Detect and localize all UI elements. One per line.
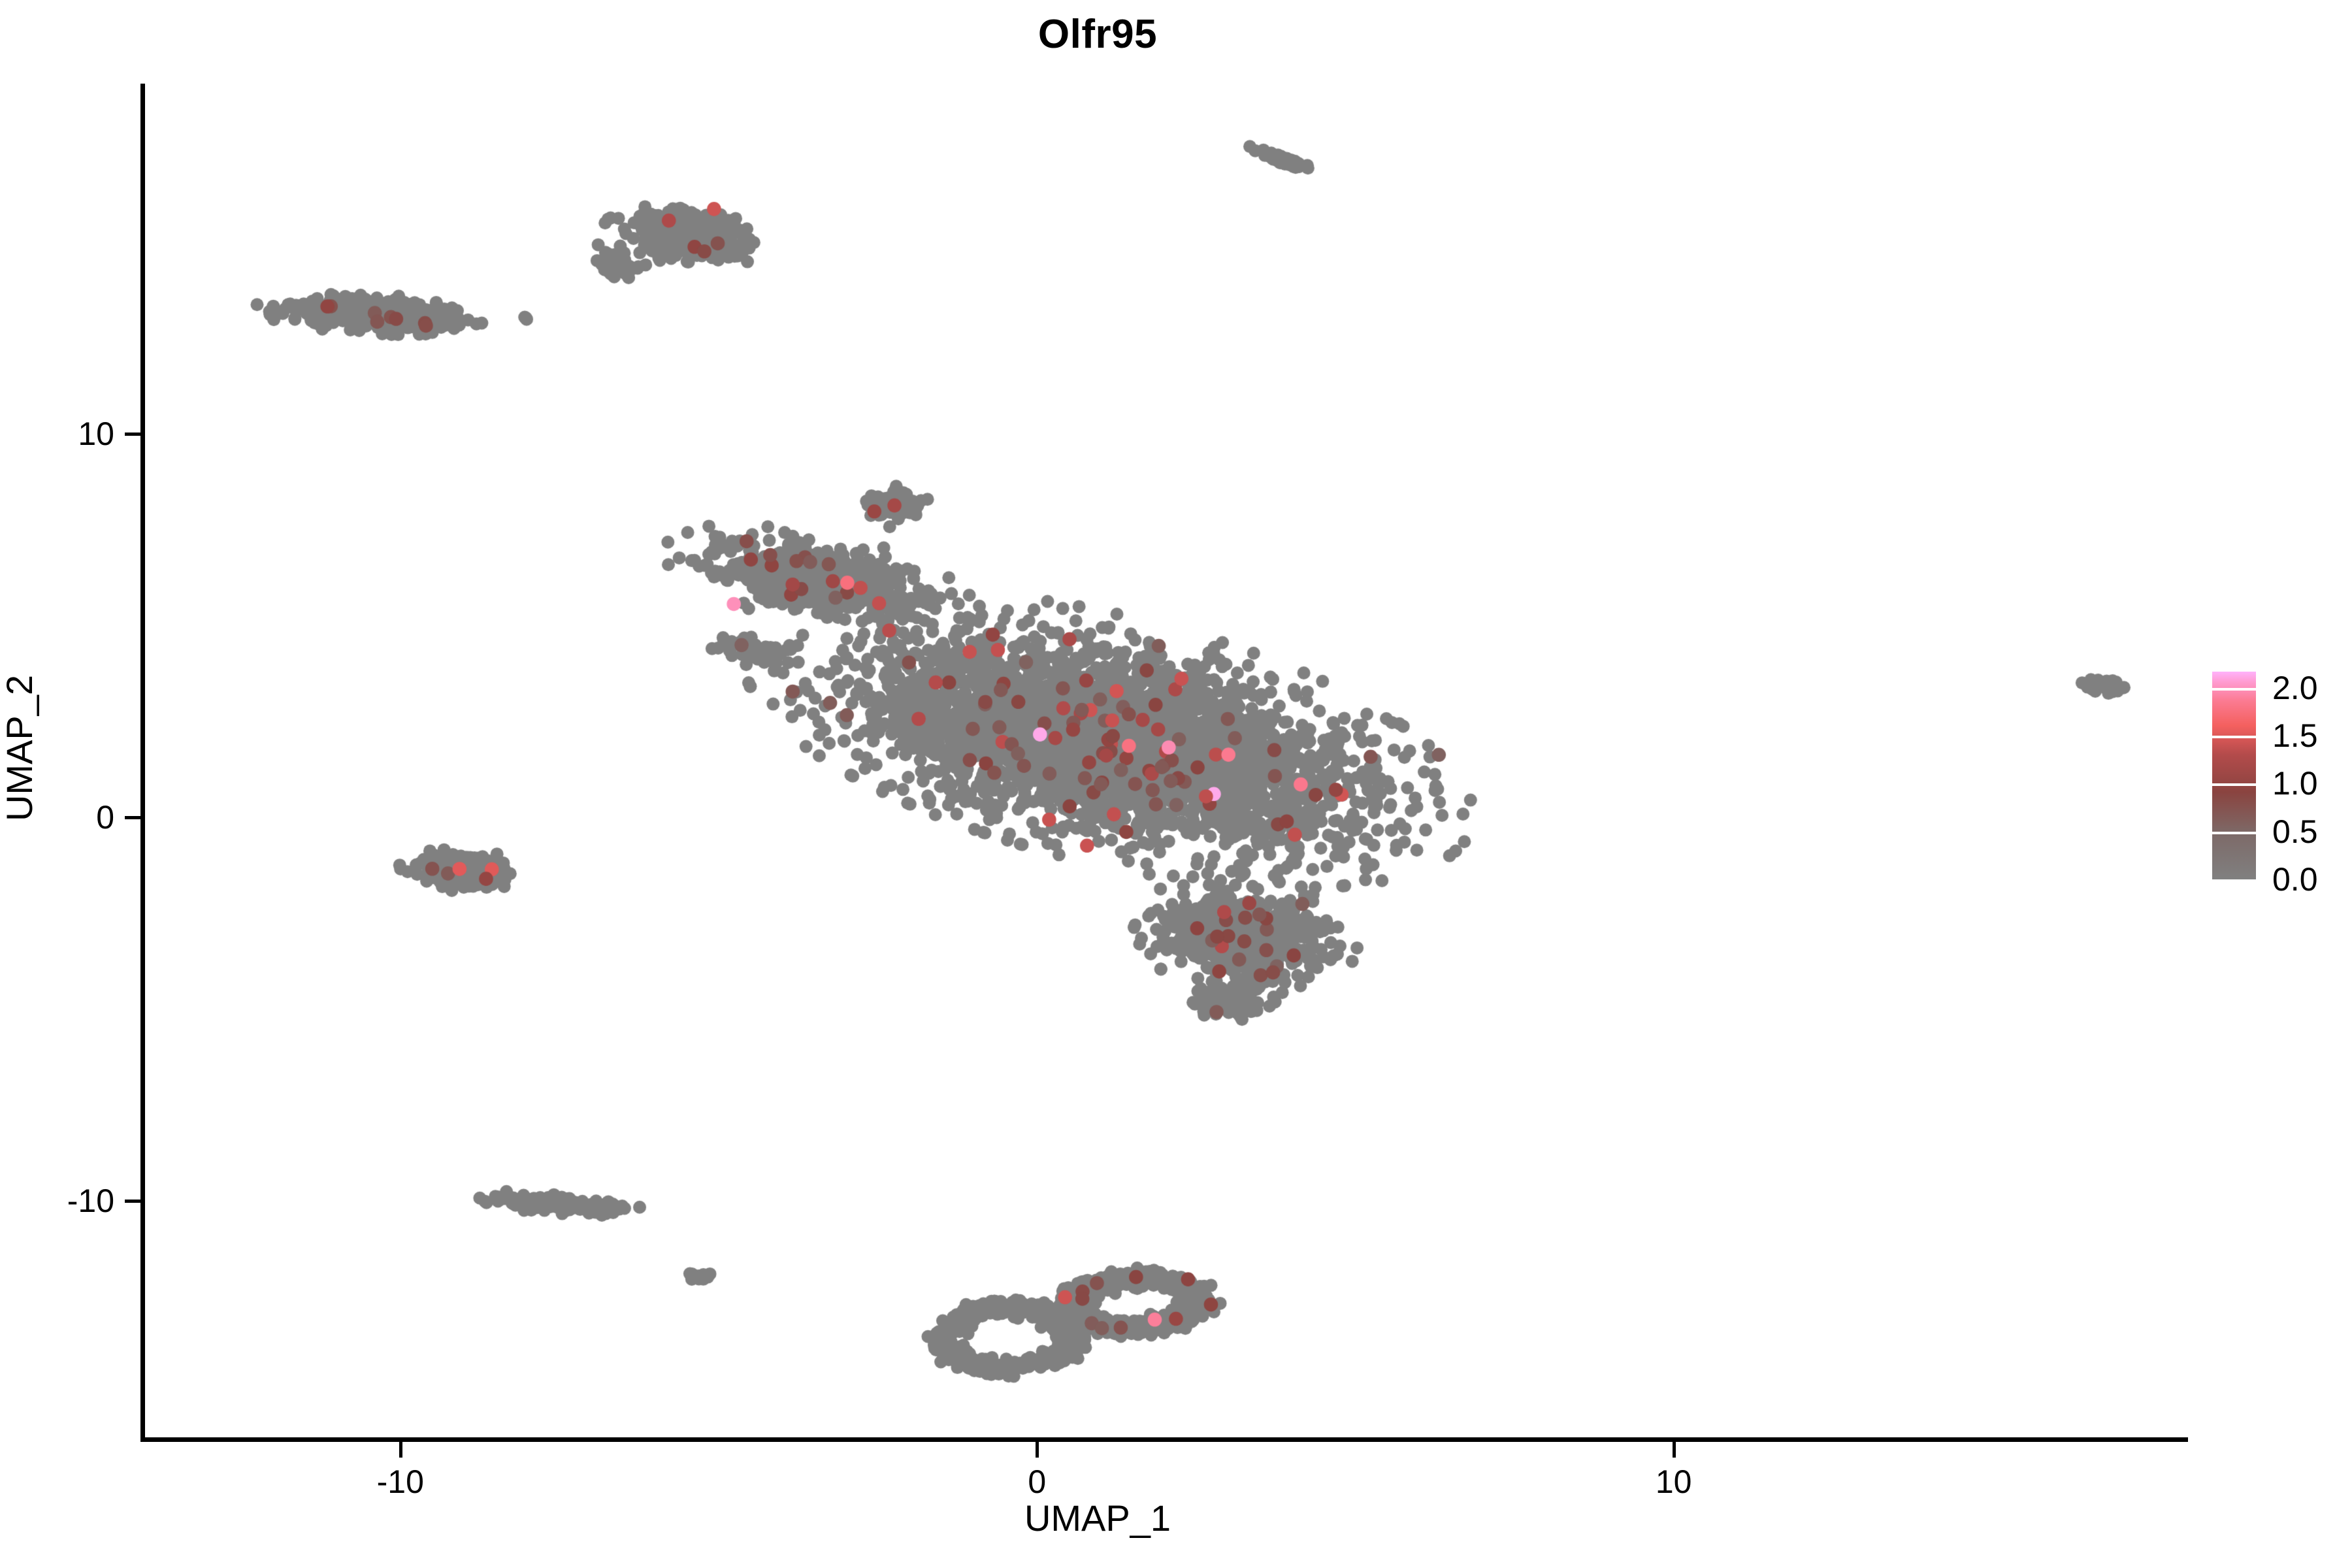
scatter-canvas bbox=[144, 84, 2188, 1441]
x-tick-label: 10 bbox=[1656, 1465, 1692, 1498]
legend-tick-label: 2.0 bbox=[2272, 672, 2318, 704]
legend-gradient-bar bbox=[2212, 672, 2256, 879]
y-tick-mark bbox=[125, 433, 140, 436]
y-axis-title: UMAP_2 bbox=[1, 454, 38, 1042]
x-tick-label: 0 bbox=[1028, 1465, 1046, 1498]
legend-colorbar: 2.01.51.00.50.0 bbox=[2212, 672, 2343, 879]
y-tick-mark bbox=[125, 1200, 140, 1203]
legend-tick-label: 0.5 bbox=[2272, 815, 2318, 848]
legend-tick-label: 1.0 bbox=[2272, 767, 2318, 800]
legend-tick-mark bbox=[2212, 832, 2256, 834]
legend-tick-label: 0.0 bbox=[2272, 863, 2318, 896]
legend-tick-mark bbox=[2212, 783, 2256, 786]
page-title: Olfr95 bbox=[0, 14, 2195, 55]
legend-tick-mark bbox=[2212, 736, 2256, 738]
y-axis-line bbox=[140, 84, 145, 1441]
plot-panel bbox=[144, 84, 2188, 1441]
legend-tick-label: 1.5 bbox=[2272, 719, 2318, 752]
x-axis-title: UMAP_1 bbox=[0, 1500, 2195, 1537]
legend-tick-mark bbox=[2212, 879, 2256, 882]
x-axis-line bbox=[140, 1437, 2188, 1442]
x-tick-mark bbox=[399, 1442, 402, 1458]
y-tick-label: -10 bbox=[67, 1184, 114, 1217]
y-tick-mark bbox=[125, 816, 140, 819]
legend-tick-mark bbox=[2212, 688, 2256, 691]
feature-plot-root: Olfr95 -10010 100-10 UMAP_1 UMAP_2 2.01.… bbox=[0, 0, 2352, 1568]
x-tick-label: -10 bbox=[377, 1465, 424, 1498]
y-tick-label: 10 bbox=[78, 417, 114, 450]
x-tick-mark bbox=[1673, 1442, 1676, 1458]
y-tick-label: 0 bbox=[96, 801, 114, 834]
x-tick-mark bbox=[1036, 1442, 1039, 1458]
